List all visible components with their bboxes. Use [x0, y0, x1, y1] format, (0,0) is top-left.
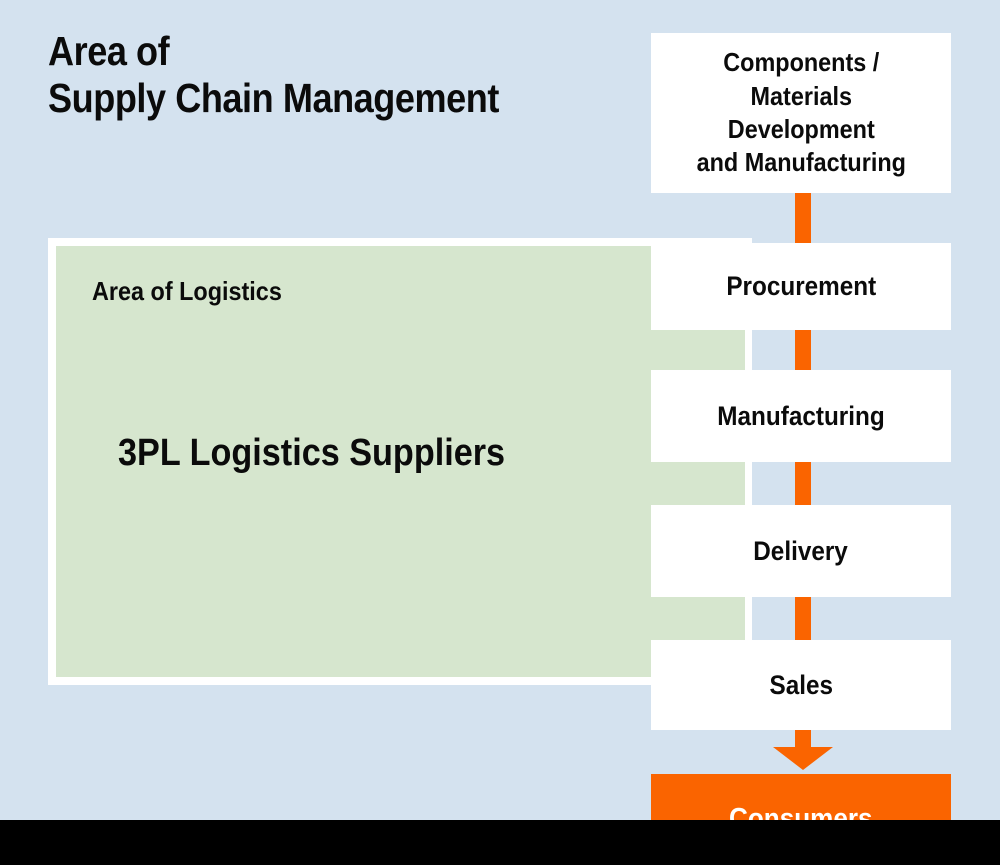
page-title: Area of Supply Chain Management [48, 28, 576, 122]
chain-box-line: Delivery [754, 534, 849, 569]
diagram-canvas: Area of Supply Chain Management Area of … [0, 0, 1000, 865]
logistics-area-tab-1 [640, 330, 745, 370]
chain-box-manufacturing: Manufacturing [651, 370, 951, 462]
logistics-provider-label: 3PL Logistics Suppliers [118, 432, 505, 475]
logistics-area-tab-2 [640, 462, 745, 505]
page-title-line-1: Area of [48, 28, 576, 75]
connector-bar-icon [795, 597, 811, 640]
chain-box-delivery: Delivery [651, 505, 951, 597]
page-title-line-2: Supply Chain Management [48, 75, 576, 122]
chain-box-line: Components / [696, 46, 905, 79]
chain-box-line: Manufacturing [717, 399, 884, 434]
chain-box-components-materials: Components / Materials Development and M… [651, 33, 951, 193]
connector-bar-icon [795, 193, 811, 243]
down-arrow-icon [751, 730, 855, 770]
logistics-area-tab-3 [640, 597, 745, 640]
logistics-area-label: Area of Logistics [92, 276, 282, 307]
chain-box-line: Materials [696, 80, 905, 113]
connector-bar-icon [795, 462, 811, 505]
chain-box-sales: Sales [651, 640, 951, 730]
connector-bar-icon [795, 330, 811, 370]
chain-box-procurement: Procurement [651, 243, 951, 330]
chain-box-line: and Manufacturing [696, 146, 905, 179]
chain-box-line: Sales [769, 668, 833, 703]
chain-box-line: Development [696, 113, 905, 146]
chain-box-line: Procurement [726, 269, 876, 304]
bottom-black-band [0, 820, 1000, 865]
